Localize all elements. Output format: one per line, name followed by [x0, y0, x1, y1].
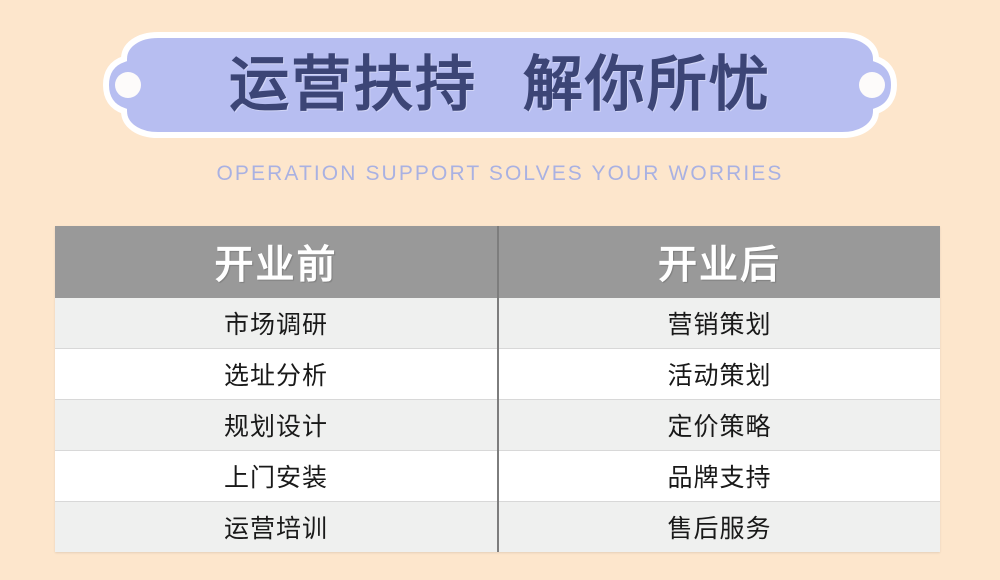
table-row: 上门安装 品牌支持: [55, 451, 940, 502]
cell-before-5: 运营培训: [55, 502, 498, 553]
table-row: 运营培训 售后服务: [55, 502, 940, 553]
column-header-after: 开业后: [498, 226, 940, 298]
cell-after-4: 品牌支持: [498, 451, 940, 502]
header-banner: 运营扶持 解你所忧: [100, 29, 900, 141]
cell-after-1: 营销策划: [498, 298, 940, 349]
table-row: 规划设计 定价策略: [55, 400, 940, 451]
cell-after-2: 活动策划: [498, 349, 940, 400]
table-header-row: 开业前 开业后: [55, 226, 940, 298]
poster-root: 运营扶持 解你所忧 OPERATION SUPPORT SOLVES YOUR …: [0, 0, 1000, 580]
comparison-table: 开业前 开业后 市场调研 营销策划 选址分析 活动策划 规划设计 定价策略 上门…: [55, 226, 940, 552]
cell-before-1: 市场调研: [55, 298, 498, 349]
cell-before-2: 选址分析: [55, 349, 498, 400]
cell-before-4: 上门安装: [55, 451, 498, 502]
cell-after-3: 定价策略: [498, 400, 940, 451]
table-body: 市场调研 营销策划 选址分析 活动策划 规划设计 定价策略 上门安装 品牌支持 …: [55, 298, 940, 552]
cell-after-5: 售后服务: [498, 502, 940, 553]
table-row: 选址分析 活动策划: [55, 349, 940, 400]
page-title: 运营扶持 解你所忧: [100, 29, 900, 141]
cell-before-3: 规划设计: [55, 400, 498, 451]
table-row: 市场调研 营销策划: [55, 298, 940, 349]
page-subtitle: OPERATION SUPPORT SOLVES YOUR WORRIES: [0, 162, 1000, 186]
column-header-before: 开业前: [55, 226, 498, 298]
table-header: 开业前 开业后: [55, 226, 940, 298]
